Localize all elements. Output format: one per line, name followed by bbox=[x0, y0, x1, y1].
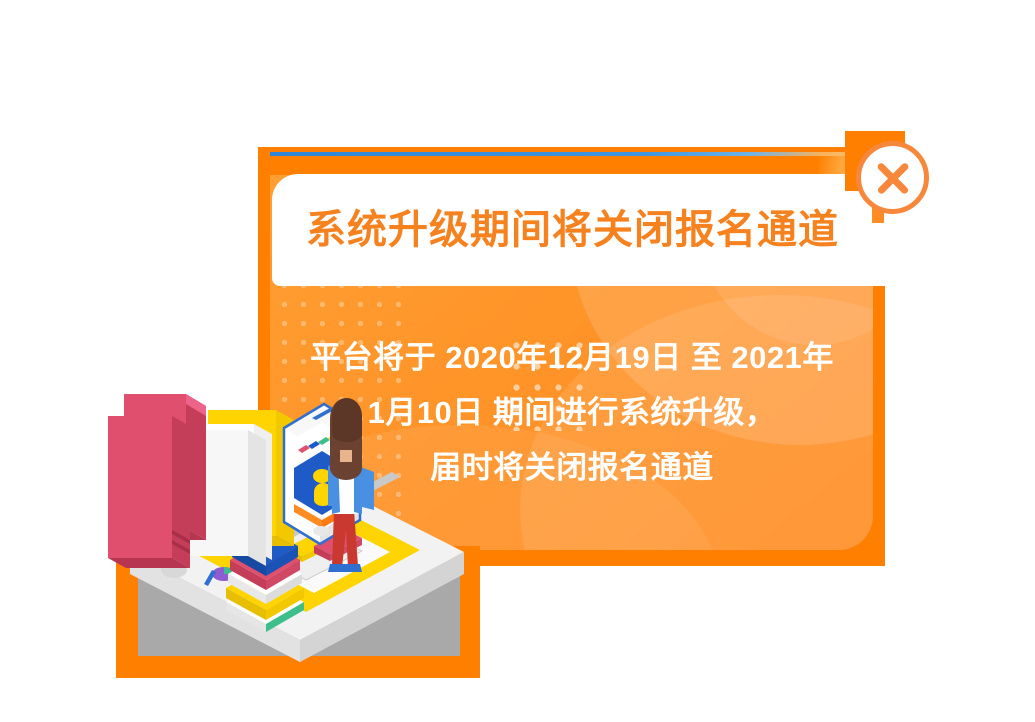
study-illustration bbox=[108, 388, 480, 685]
notice-banner-stage: 系统升级期间将关闭报名通道 平台将于 2020年12月19日 至 2021年 1… bbox=[0, 0, 1035, 722]
close-button[interactable] bbox=[856, 141, 929, 214]
top-blue-stripe bbox=[270, 152, 870, 156]
close-button-group[interactable] bbox=[845, 131, 925, 235]
page-title: 系统升级期间将关闭报名通道 bbox=[306, 210, 839, 250]
upright-books bbox=[108, 388, 294, 568]
notice-title-plate: 系统升级期间将关闭报名通道 bbox=[272, 174, 895, 286]
close-x-icon bbox=[874, 159, 912, 197]
notice-body-line-1: 平台将于 2020年12月19日 至 2021年 bbox=[272, 330, 872, 385]
